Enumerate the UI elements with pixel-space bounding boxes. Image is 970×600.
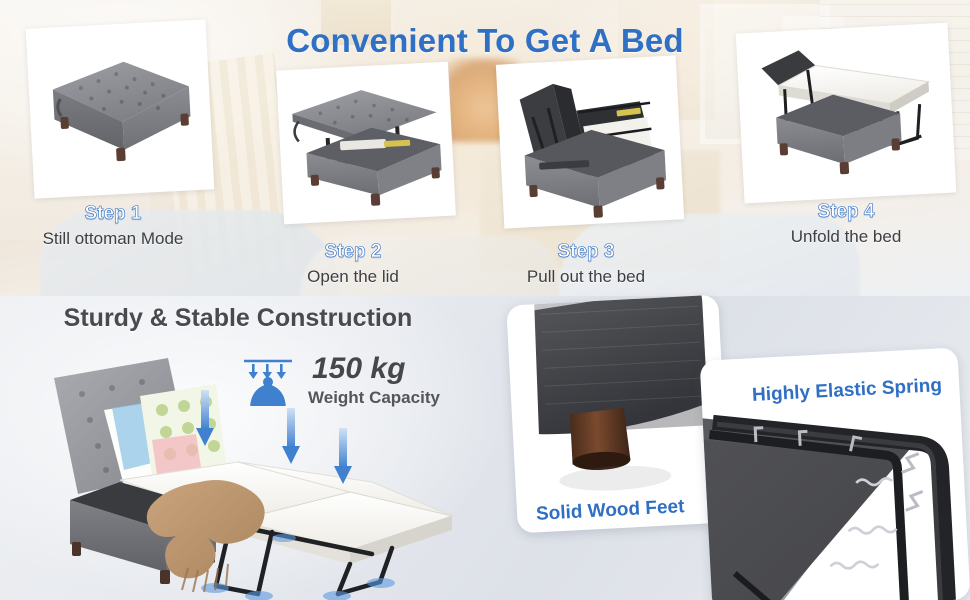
pressure-down-arrow-icon xyxy=(196,390,214,448)
step-3-photo xyxy=(496,55,684,228)
step-4-caption: Unfold the bed xyxy=(740,227,952,247)
step-2-badge: Step 2 xyxy=(302,240,403,264)
step-2-block: Step 2 Open the lid xyxy=(248,240,458,287)
step-1-badge: Step 1 xyxy=(62,202,163,226)
weight-kettlebell-icon xyxy=(240,356,296,412)
bottom-section-title: Sturdy & Stable Construction xyxy=(28,304,448,333)
step-4-badge: Step 4 xyxy=(795,200,896,224)
step-4-block: Step 4 Unfold the bed xyxy=(740,200,952,247)
solid-wood-feet-card xyxy=(506,295,730,534)
pressure-down-arrow-icon xyxy=(282,408,300,466)
step-1-block: Step 1 Still ottoman Mode xyxy=(8,202,218,249)
product-infographic: Convenient To Get A Bed Step 1 Still ott… xyxy=(0,0,970,600)
step-3-caption: Pull out the bed xyxy=(478,267,694,287)
ottoman-lid-open-illustration xyxy=(276,62,456,225)
top-section-title: Convenient To Get A Bed xyxy=(0,22,970,60)
step-3-block: Step 3 Pull out the bed xyxy=(478,240,694,287)
step-2-photo xyxy=(276,62,456,225)
down-arrow-icon xyxy=(249,364,287,379)
solid-wood-foot-illustration xyxy=(506,295,730,534)
weight-capacity-label: Weight Capacity xyxy=(308,388,440,408)
steps-section: Convenient To Get A Bed Step 1 Still ott… xyxy=(0,0,970,296)
step-3-badge: Step 3 xyxy=(535,240,636,264)
step-2-caption: Open the lid xyxy=(248,267,458,287)
weight-capacity-value: 150 kg xyxy=(312,352,405,386)
pressure-down-arrow-icon xyxy=(334,428,352,486)
step-1-caption: Still ottoman Mode xyxy=(8,229,218,249)
bed-pulled-out-illustration xyxy=(496,55,684,228)
